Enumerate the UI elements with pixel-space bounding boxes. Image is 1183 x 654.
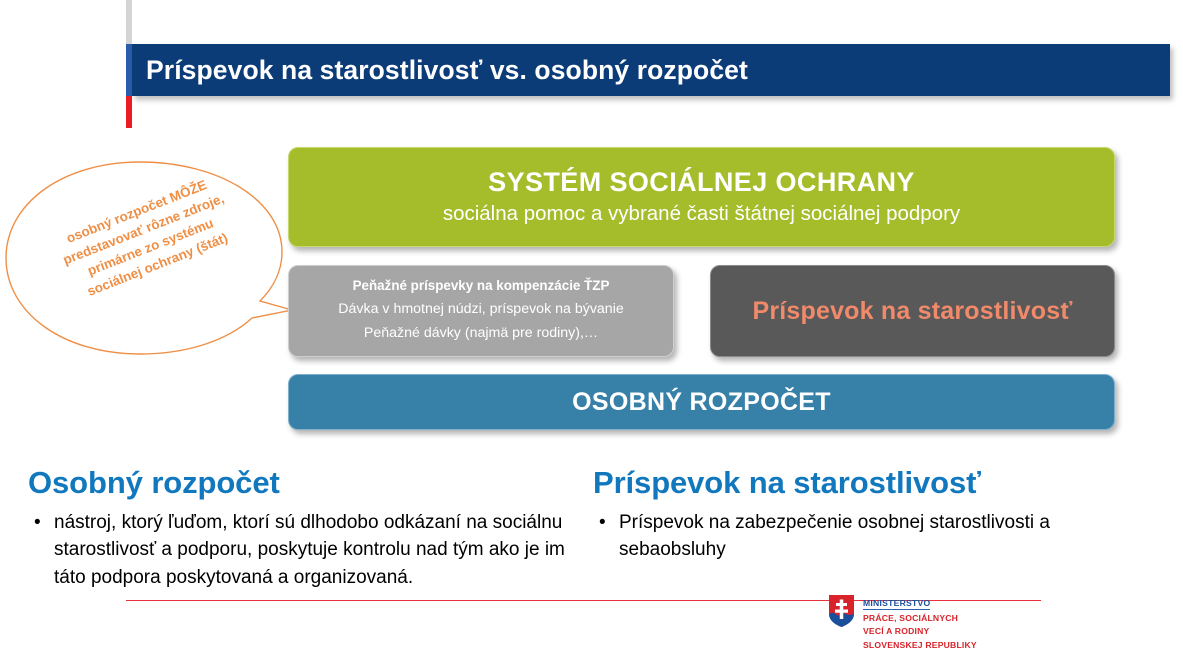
bullet-marker: • — [28, 509, 54, 537]
gray-box-line-3: Peňažné dávky (najmä pre rodiny),… — [364, 321, 598, 346]
list-item: • nástroj, ktorý ľuďom, ktorí sú dlhodob… — [28, 509, 593, 592]
list-item: • Príspevok na zabezpečenie osobnej star… — [593, 509, 1073, 564]
blue-box-label: OSOBNÝ ROZPOČET — [572, 388, 831, 417]
column-right-heading: Príspevok na starostlivosť — [593, 466, 1073, 501]
column-personal-budget: Osobný rozpočet • nástroj, ktorý ľuďom, … — [28, 466, 593, 591]
diagram-box-cash-benefits: Peňažné príspevky na kompenzácie ŤZP Dáv… — [288, 265, 674, 357]
callout-bubble-outline — [0, 158, 300, 358]
ministry-logo: MINISTERSTVO PRÁCE, SOCIÁLNYCH VECÍ A RO… — [828, 592, 1043, 642]
diagram-box-personal-budget: OSOBNÝ ROZPOČET — [288, 374, 1115, 430]
column-care-allowance: Príspevok na starostlivosť • Príspevok n… — [593, 466, 1073, 564]
dark-gray-box-label: Príspevok na starostlivosť — [752, 297, 1072, 326]
bullet-text: Príspevok na zabezpečenie osobnej staros… — [619, 509, 1073, 564]
gray-box-line-1: Peňažné príspevky na kompenzácie ŤZP — [353, 276, 610, 297]
ministry-line-1: MINISTERSTVO — [863, 598, 930, 610]
page-title: Príspevok na starostlivosť vs. osobný ro… — [132, 55, 748, 86]
ministry-line-2: PRÁCE, SOCIÁLNYCH — [863, 613, 977, 624]
green-box-title: SYSTÉM SOCIÁLNEJ OCHRANY — [488, 167, 915, 198]
gray-box-line-2: Dávka v hmotnej núdzi, príspevok na býva… — [338, 297, 623, 322]
ministry-line-3: VECÍ A RODINY — [863, 626, 977, 637]
accent-segment-red — [126, 96, 132, 128]
diagram-box-care-allowance: Príspevok na starostlivosť — [710, 265, 1115, 357]
slide-title-bar: Príspevok na starostlivosť vs. osobný ro… — [132, 44, 1170, 96]
accent-segment-gray — [126, 0, 132, 44]
diagram-box-social-protection-system: SYSTÉM SOCIÁLNEJ OCHRANY sociálna pomoc … — [288, 147, 1115, 247]
ministry-logo-text: MINISTERSTVO PRÁCE, SOCIÁLNYCH VECÍ A RO… — [863, 592, 977, 651]
ministry-line-4: SLOVENSKEJ REPUBLIKY — [863, 640, 977, 651]
slovak-coat-of-arms-icon — [828, 594, 855, 628]
bullet-text: nástroj, ktorý ľuďom, ktorí sú dlhodobo … — [54, 509, 593, 592]
column-left-heading: Osobný rozpočet — [28, 466, 593, 501]
callout-bubble: osobný rozpočet MÔŽE predstavovať rôzne … — [0, 158, 300, 358]
green-box-subtitle: sociálna pomoc a vybrané časti štátnej s… — [443, 202, 960, 227]
bullet-marker: • — [593, 509, 619, 537]
